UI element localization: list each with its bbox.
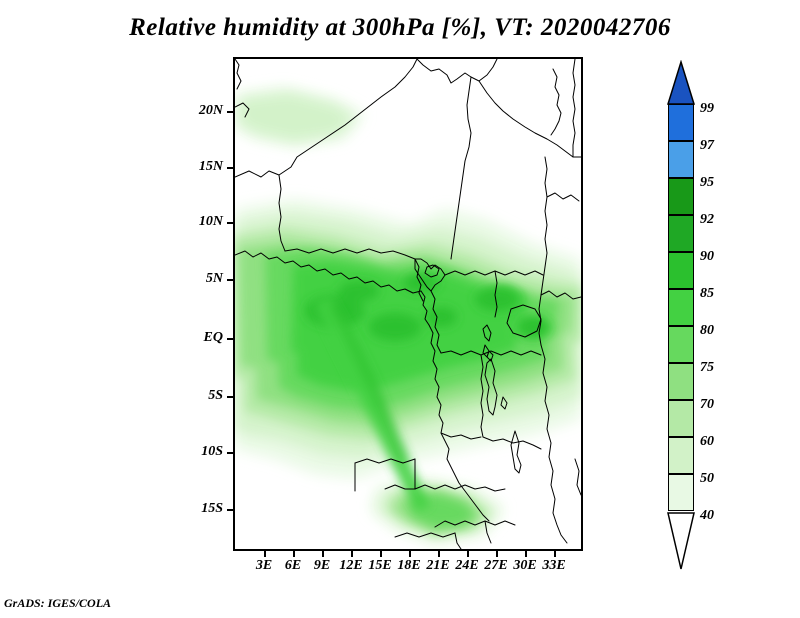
colorbar-band-90: [668, 252, 694, 289]
y-tick: [227, 222, 233, 224]
footer-credit: GrADS: IGES/COLA: [4, 596, 111, 611]
x-tick: [409, 551, 411, 557]
y-axis-label-EQ: EQ: [163, 330, 223, 346]
colorbar: 99 97 95 92 90 85 80 75 70 60 50 40: [664, 60, 784, 560]
colorbar-band-85: [668, 289, 694, 326]
y-tick: [227, 111, 233, 113]
colorbar-band-92: [668, 215, 694, 252]
colorbar-label-60: 60: [700, 434, 714, 450]
y-tick: [227, 396, 233, 398]
colorbar-band-97: [668, 141, 694, 178]
x-tick: [496, 551, 498, 557]
map-canvas: [235, 59, 581, 549]
x-axis-label-33E: 33E: [532, 558, 576, 574]
y-tick: [227, 279, 233, 281]
colorbar-band-95: [668, 178, 694, 215]
colorbar-band-60: [668, 437, 694, 474]
colorbar-label-70: 70: [700, 397, 714, 413]
colorbar-label-80: 80: [700, 323, 714, 339]
colorbar-label-99: 99: [700, 101, 714, 117]
x-tick: [525, 551, 527, 557]
colorbar-extend-high-arrow: [664, 60, 704, 106]
colorbar-band-50: [668, 474, 694, 511]
colorbar-band-80: [668, 326, 694, 363]
y-tick: [227, 338, 233, 340]
y-tick: [227, 452, 233, 454]
y-axis-label-15S: 15S: [163, 501, 223, 517]
y-axis-label-20N: 20N: [163, 103, 223, 119]
colorbar-label-95: 95: [700, 175, 714, 191]
x-tick: [438, 551, 440, 557]
colorbar-band-99: [668, 104, 694, 141]
y-tick: [227, 509, 233, 511]
x-tick: [293, 551, 295, 557]
map-plot-area: [233, 57, 583, 551]
y-axis-label-10S: 10S: [163, 444, 223, 460]
y-axis-label-10N: 10N: [163, 214, 223, 230]
colorbar-label-97: 97: [700, 138, 714, 154]
colorbar-label-85: 85: [700, 286, 714, 302]
colorbar-band-75: [668, 363, 694, 400]
y-axis-label-5S: 5S: [163, 388, 223, 404]
page-title: Relative humidity at 300hPa [%], VT: 202…: [0, 14, 800, 42]
x-tick: [554, 551, 556, 557]
x-tick: [380, 551, 382, 557]
colorbar-label-92: 92: [700, 212, 714, 228]
x-tick: [351, 551, 353, 557]
y-axis-label-15N: 15N: [163, 159, 223, 175]
x-tick: [264, 551, 266, 557]
colorbar-band-70: [668, 400, 694, 437]
x-tick: [467, 551, 469, 557]
humidity-shading: [235, 59, 581, 549]
x-tick: [322, 551, 324, 557]
colorbar-extend-low-arrow: [664, 511, 704, 573]
y-tick: [227, 167, 233, 169]
colorbar-label-50: 50: [700, 471, 714, 487]
colorbar-label-90: 90: [700, 249, 714, 265]
colorbar-label-40: 40: [700, 508, 714, 524]
colorbar-label-75: 75: [700, 360, 714, 376]
y-axis-label-5N: 5N: [163, 271, 223, 287]
